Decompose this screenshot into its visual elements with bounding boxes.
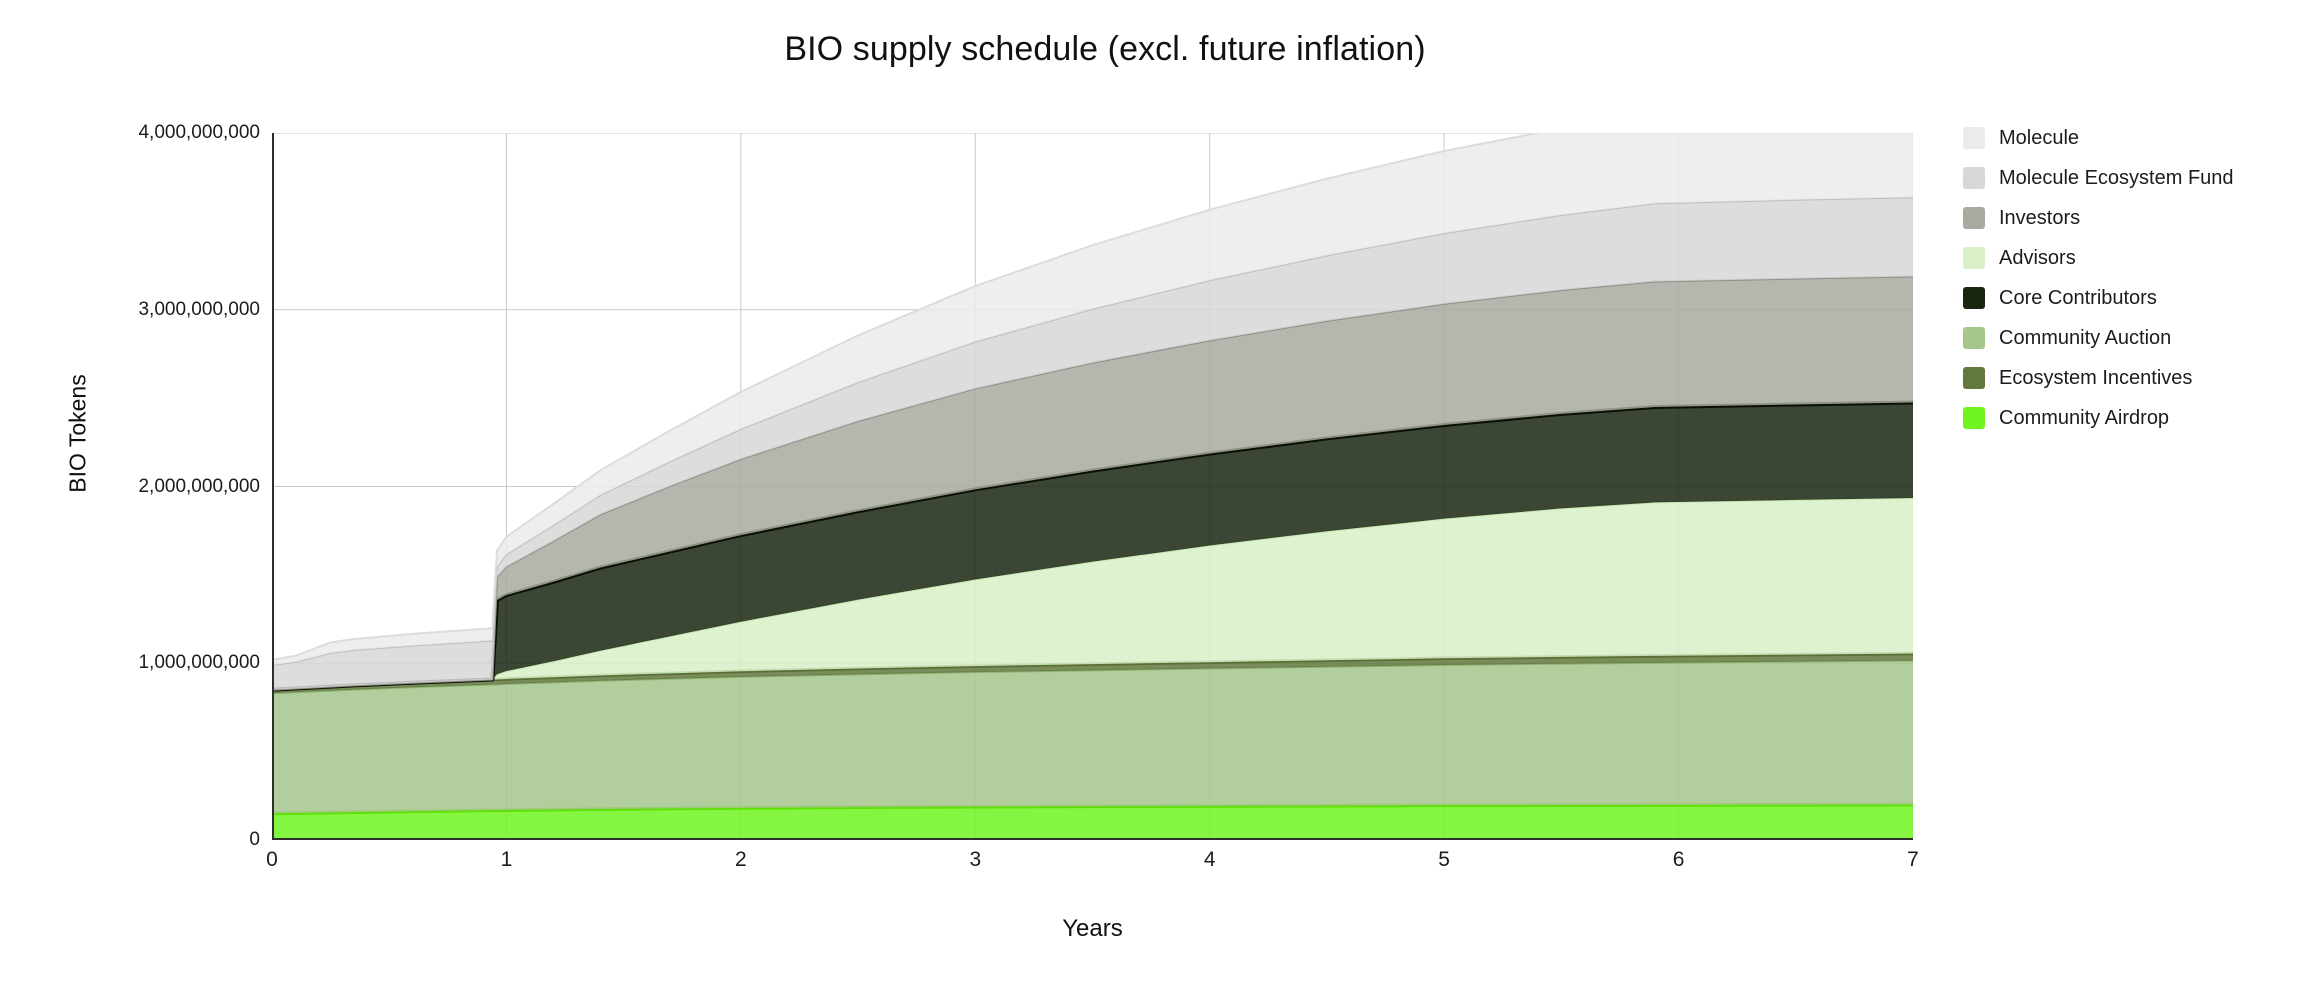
y-axis-ticks: 01,000,000,0002,000,000,0003,000,000,000… [110, 133, 260, 840]
x-tick-label: 7 [1907, 848, 1919, 872]
legend-item[interactable]: Community Auction [1963, 318, 2293, 358]
chart-title: BIO supply schedule (excl. future inflat… [0, 30, 2210, 69]
legend-label: Ecosystem Incentives [1999, 367, 2192, 390]
legend-swatch-icon [1963, 407, 1985, 429]
y-tick-label: 2,000,000,000 [138, 476, 260, 498]
x-tick-label: 2 [735, 848, 747, 872]
legend-swatch-icon [1963, 247, 1985, 269]
x-tick-label: 3 [969, 848, 981, 872]
legend-swatch-icon [1963, 327, 1985, 349]
x-tick-label: 0 [266, 848, 278, 872]
legend-item[interactable]: Ecosystem Incentives [1963, 358, 2293, 398]
legend-item[interactable]: Molecule Ecosystem Fund [1963, 158, 2293, 198]
y-tick-label: 1,000,000,000 [138, 652, 260, 674]
legend-item[interactable]: Core Contributors [1963, 278, 2293, 318]
legend-label: Community Airdrop [1999, 407, 2169, 430]
chart-figure: BIO supply schedule (excl. future inflat… [0, 0, 2304, 995]
legend-label: Investors [1999, 207, 2080, 230]
x-tick-label: 1 [501, 848, 513, 872]
legend-label: Community Auction [1999, 327, 2171, 350]
plot-area [272, 133, 1913, 840]
x-axis-label: Years [272, 915, 1913, 943]
y-tick-label: 4,000,000,000 [138, 122, 260, 144]
y-tick-label: 3,000,000,000 [138, 299, 260, 321]
legend-swatch-icon [1963, 367, 1985, 389]
legend-item[interactable]: Advisors [1963, 238, 2293, 278]
chart-legend: MoleculeMolecule Ecosystem FundInvestors… [1963, 118, 2293, 438]
legend-swatch-icon [1963, 287, 1985, 309]
legend-swatch-icon [1963, 207, 1985, 229]
legend-item[interactable]: Molecule [1963, 118, 2293, 158]
legend-label: Molecule [1999, 127, 2079, 150]
x-tick-label: 4 [1204, 848, 1216, 872]
x-axis-ticks: 01234567 [272, 848, 1913, 882]
legend-swatch-icon [1963, 127, 1985, 149]
legend-item[interactable]: Investors [1963, 198, 2293, 238]
y-tick-label: 0 [249, 829, 260, 851]
legend-item[interactable]: Community Airdrop [1963, 398, 2293, 438]
legend-label: Molecule Ecosystem Fund [1999, 167, 2234, 190]
x-tick-label: 5 [1438, 848, 1450, 872]
plot-frame [272, 133, 1913, 840]
x-tick-label: 6 [1673, 848, 1685, 872]
y-axis-label: BIO Tokens [65, 334, 92, 534]
legend-label: Advisors [1999, 247, 2076, 270]
legend-swatch-icon [1963, 167, 1985, 189]
legend-label: Core Contributors [1999, 287, 2157, 310]
